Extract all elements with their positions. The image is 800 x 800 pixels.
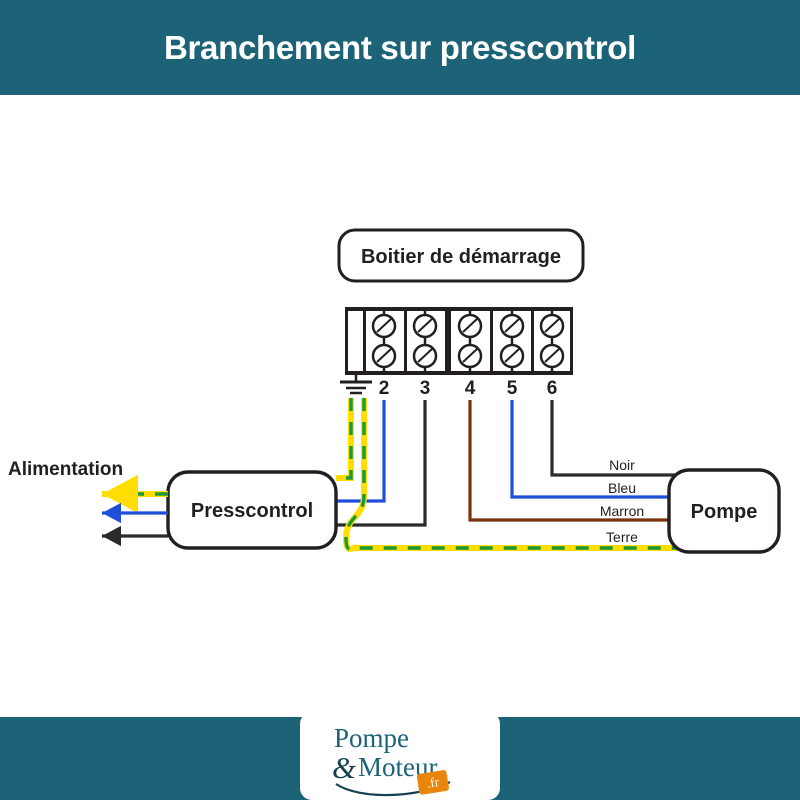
page-root: Branchement sur presscontrol Boitier de … <box>0 0 800 800</box>
terminal-number-3: 3 <box>420 378 431 399</box>
terminal-divider-2 <box>404 307 407 375</box>
presscontrol-box-label: Presscontrol <box>191 500 313 522</box>
boitier-box-label: Boitier de démarrage <box>361 246 561 268</box>
wire-label-terre: Terre <box>606 529 638 545</box>
terminal-divider-5 <box>531 307 534 375</box>
pompe-box-label: Pompe <box>691 501 758 523</box>
wire-terminal5-to-pompe-bleu <box>512 400 690 497</box>
boitier-box[interactable]: Boitier de démarrage <box>339 230 583 281</box>
terminal-number-6: 6 <box>547 378 558 399</box>
footer-logo-card[interactable]: Pompe & Moteur .fr <box>300 712 500 800</box>
terminal-divider-0 <box>345 307 348 375</box>
terminal-screws-6[interactable] <box>541 309 563 373</box>
terminal-number-2: 2 <box>379 378 390 399</box>
ground-symbol-icon <box>340 375 372 393</box>
terminal-number-4: 4 <box>465 378 476 399</box>
logo-line1: Pompe <box>334 723 409 753</box>
pompe-box[interactable]: Pompe <box>669 470 779 552</box>
terminal-block[interactable] <box>345 307 573 375</box>
wire-label-noir: Noir <box>609 457 635 473</box>
wire-terminal4-to-pompe-marron <box>470 400 690 520</box>
header-bar: Branchement sur presscontrol <box>0 0 800 95</box>
terminal-number-5: 5 <box>507 378 518 399</box>
wire-earth-to-presscontrol-base <box>336 398 351 478</box>
terminal-screws-2[interactable] <box>373 309 395 373</box>
wire-terminal2-to-presscontrol-bleu <box>336 400 384 501</box>
terminal-divider-3-thick <box>445 307 451 375</box>
terminal-divider-4 <box>490 307 493 375</box>
terminal-divider-6 <box>570 307 573 375</box>
pompe-et-moteur-logo: Pompe & Moteur .fr <box>300 712 500 800</box>
terminal-screws-3[interactable] <box>414 309 436 373</box>
terminal-divider-1 <box>363 307 366 375</box>
wiring-diagram: Boitier de démarrage <box>0 95 800 717</box>
terminal-block-bottom-rail <box>345 371 573 375</box>
wire-label-marron: Marron <box>600 503 644 519</box>
terminal-block-top-rail <box>345 307 573 311</box>
page-title: Branchement sur presscontrol <box>164 29 636 67</box>
terminal-screws-5[interactable] <box>501 309 523 373</box>
logo-ampersand: & <box>332 750 356 785</box>
presscontrol-box[interactable]: Presscontrol <box>168 472 336 548</box>
wire-label-bleu: Bleu <box>608 480 636 496</box>
terminal-screws-4[interactable] <box>459 309 481 373</box>
supply-label: Alimentation <box>8 459 123 480</box>
